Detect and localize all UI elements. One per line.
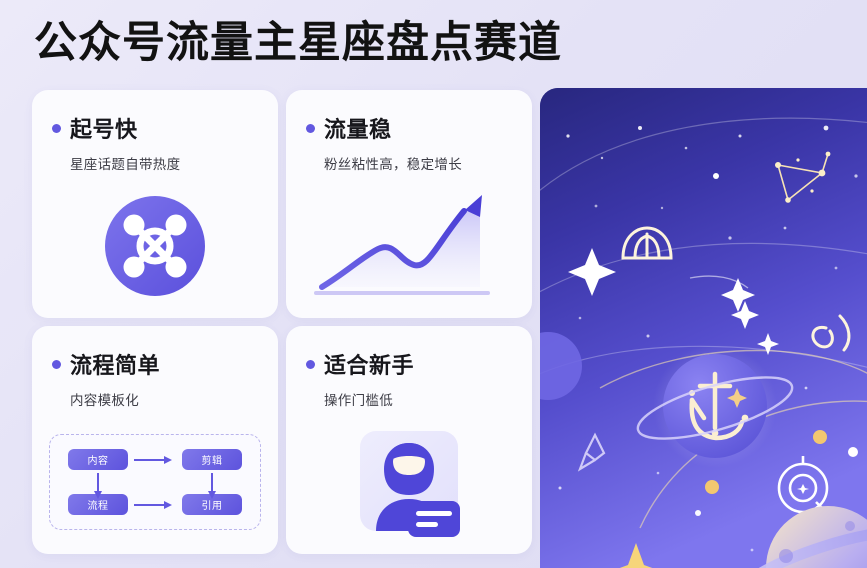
card-title: 起号快 <box>70 112 138 144</box>
orbit-node-dot <box>705 480 719 494</box>
card-title: 适合新手 <box>324 348 414 380</box>
card-visual <box>286 418 532 546</box>
card-subtitle: 操作门槛低 <box>324 389 512 409</box>
card-header: 适合新手 <box>306 348 512 380</box>
card-visual <box>32 182 278 310</box>
card-subtitle: 内容模板化 <box>70 389 258 409</box>
flow-arrow-down-left <box>92 471 104 501</box>
bullet-dot-icon <box>52 124 61 133</box>
feature-card-grid: 起号快 星座话题自带热度 <box>32 90 532 550</box>
space-scene-svg <box>540 88 867 568</box>
feature-card-qihaokuai[interactable]: 起号快 星座话题自带热度 <box>32 90 278 318</box>
page-title: 公众号流量主星座盘点赛道 <box>34 14 562 72</box>
card-visual: 内容 剪辑 流程 引用 <box>32 418 278 546</box>
network-hub-circle-icon <box>103 194 207 298</box>
card-title: 流量稳 <box>324 112 392 144</box>
flow-diagram: 内容 剪辑 流程 引用 <box>49 434 261 530</box>
flow-node-1: 内容 <box>68 449 128 470</box>
orbit-node-dot <box>813 430 827 444</box>
person-card-illustration <box>346 419 472 545</box>
card-subtitle: 粉丝粘性高，稳定增长 <box>324 153 512 173</box>
flow-node-2: 剪辑 <box>182 449 242 470</box>
flow-arrow-down-right <box>206 471 218 501</box>
bullet-dot-icon <box>52 360 61 369</box>
orbit-node-dot <box>848 447 858 457</box>
card-header: 流程简单 <box>52 348 258 380</box>
card-header: 流量稳 <box>306 112 512 144</box>
feature-card-shihexinshou[interactable]: 适合新手 操作门槛低 <box>286 326 532 554</box>
bullet-dot-icon <box>306 360 315 369</box>
growth-line-chart <box>304 183 514 309</box>
flow-arrow-right-bottom <box>132 499 174 511</box>
card-subtitle: 星座话题自带热度 <box>70 153 258 173</box>
feature-card-liuchengjiandan[interactable]: 流程简单 内容模板化 内容 剪辑 流程 引用 <box>32 326 278 554</box>
card-visual <box>286 182 532 310</box>
card-title: 流程简单 <box>70 348 160 380</box>
zodiac-space-illustration <box>540 88 867 568</box>
poster-root: 公众号流量主星座盘点赛道 起号快 星座话题自带热度 <box>0 0 867 568</box>
card-header: 起号快 <box>52 112 258 144</box>
flow-arrow-right-top <box>132 454 174 466</box>
feature-card-liuliangwen[interactable]: 流量稳 粉丝粘性高，稳定增长 <box>286 90 532 318</box>
bullet-dot-icon <box>306 124 315 133</box>
